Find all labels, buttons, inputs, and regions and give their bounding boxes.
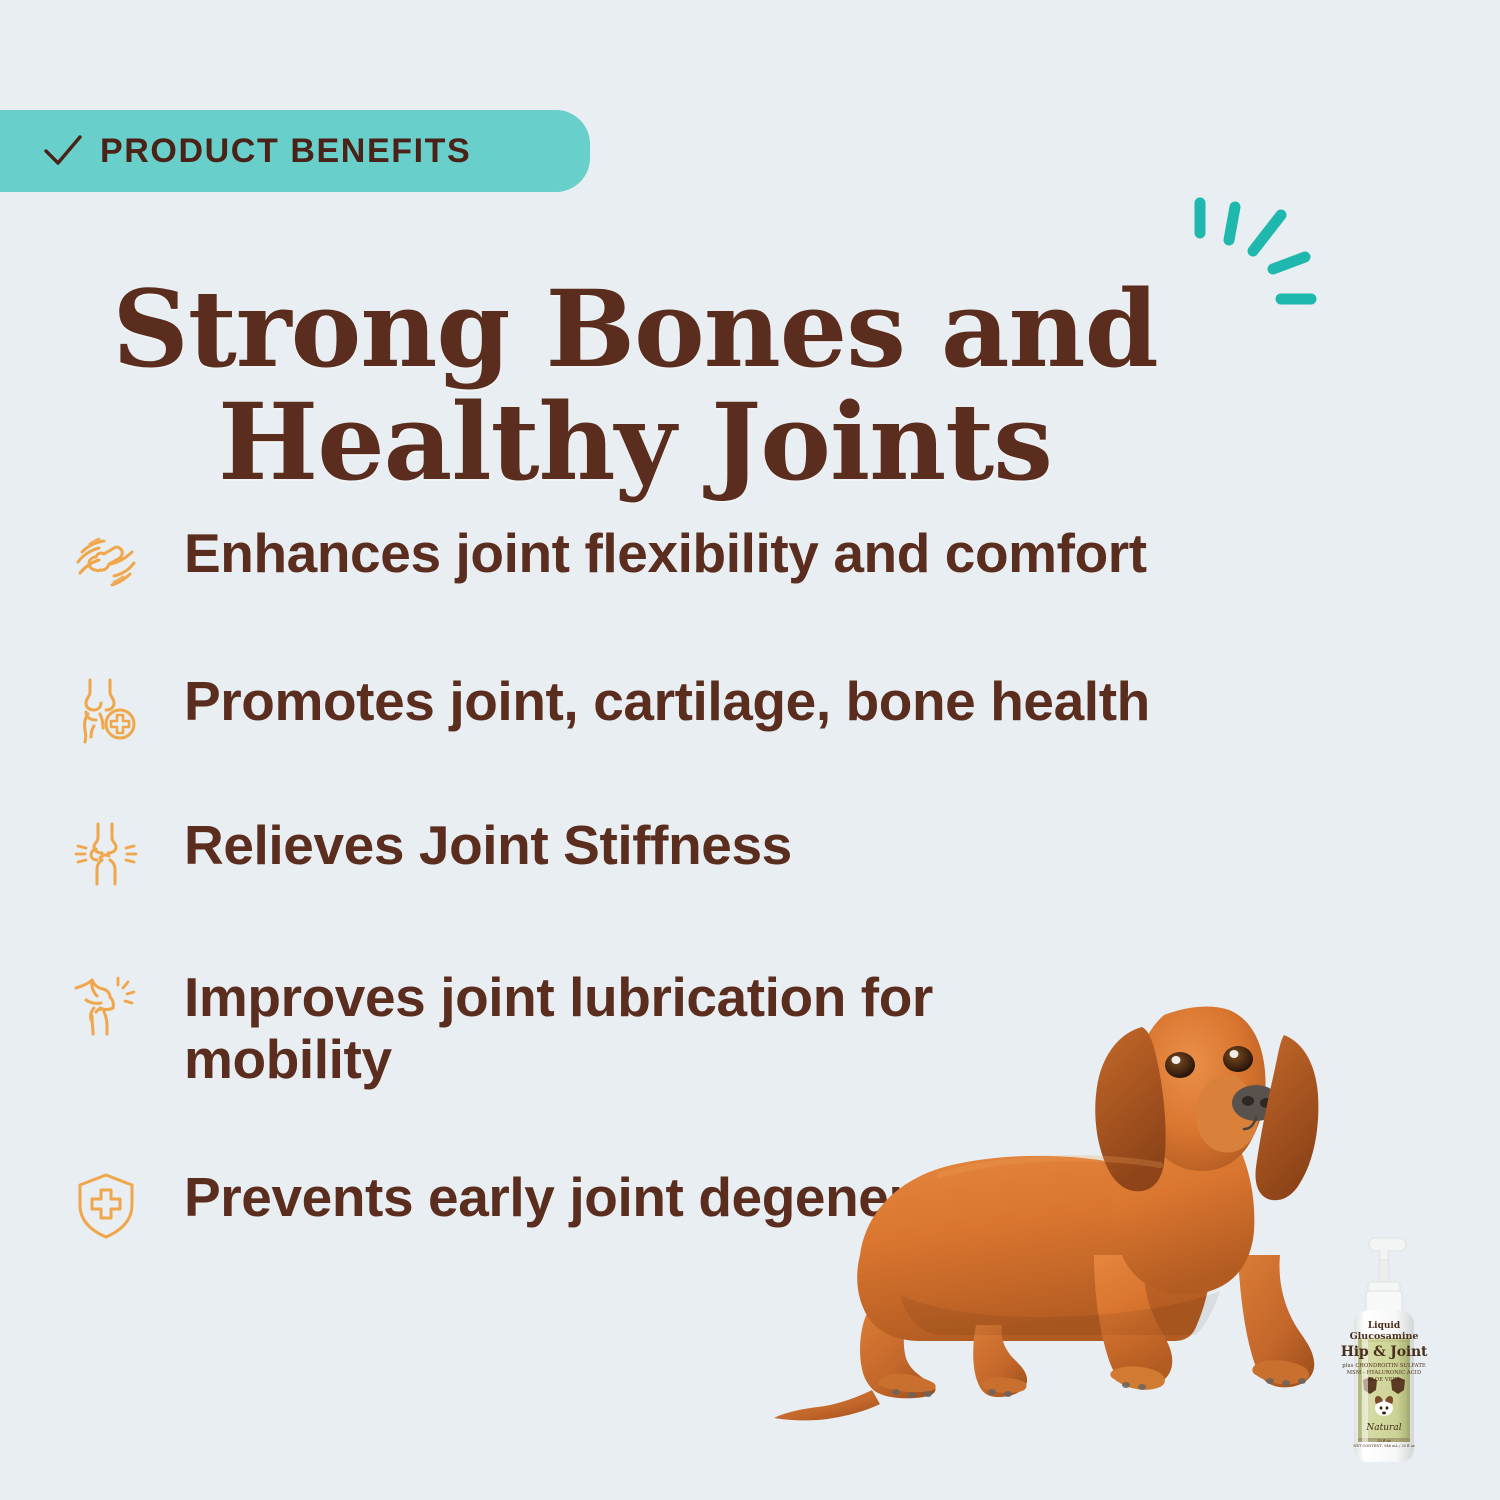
sparkle-lines-icon [1185, 195, 1335, 325]
banner-label: PRODUCT BENEFITS [100, 132, 471, 171]
benefit-item: Relieves Joint Stiffness [70, 812, 1300, 908]
product-benefits-infographic: PRODUCT BENEFITS Strong Bones and Health… [0, 0, 1500, 1500]
check-icon [44, 134, 82, 168]
dachshund-dog-photo [690, 955, 1430, 1485]
page-title-line-1: Strong Bones and [0, 272, 1270, 385]
shield-cross-icon [70, 1170, 142, 1242]
benefit-item: Enhances joint flexibility and comfort [70, 520, 1300, 616]
benefit-label: Promotes joint, cartilage, bone health [184, 668, 1150, 732]
benefit-item: Promotes joint, cartilage, bone health [70, 668, 1300, 764]
knee-joint-cross-badge-icon [70, 674, 142, 746]
benefit-label: Enhances joint flexibility and comfort [184, 520, 1147, 584]
product-bottle: Liquid Glucosamine Hip & Joint plus CHON… [1332, 1232, 1436, 1472]
page-title: Strong Bones and Healthy Joints [0, 272, 1270, 499]
knee-joint-spark-icon [70, 970, 142, 1042]
joint-relief-rays-icon [70, 818, 142, 890]
bone-joint-flexibility-icon [70, 526, 142, 598]
product-benefits-banner: PRODUCT BENEFITS [0, 110, 590, 192]
benefit-label: Relieves Joint Stiffness [184, 812, 792, 876]
page-title-line-2: Healthy Joints [0, 385, 1270, 498]
